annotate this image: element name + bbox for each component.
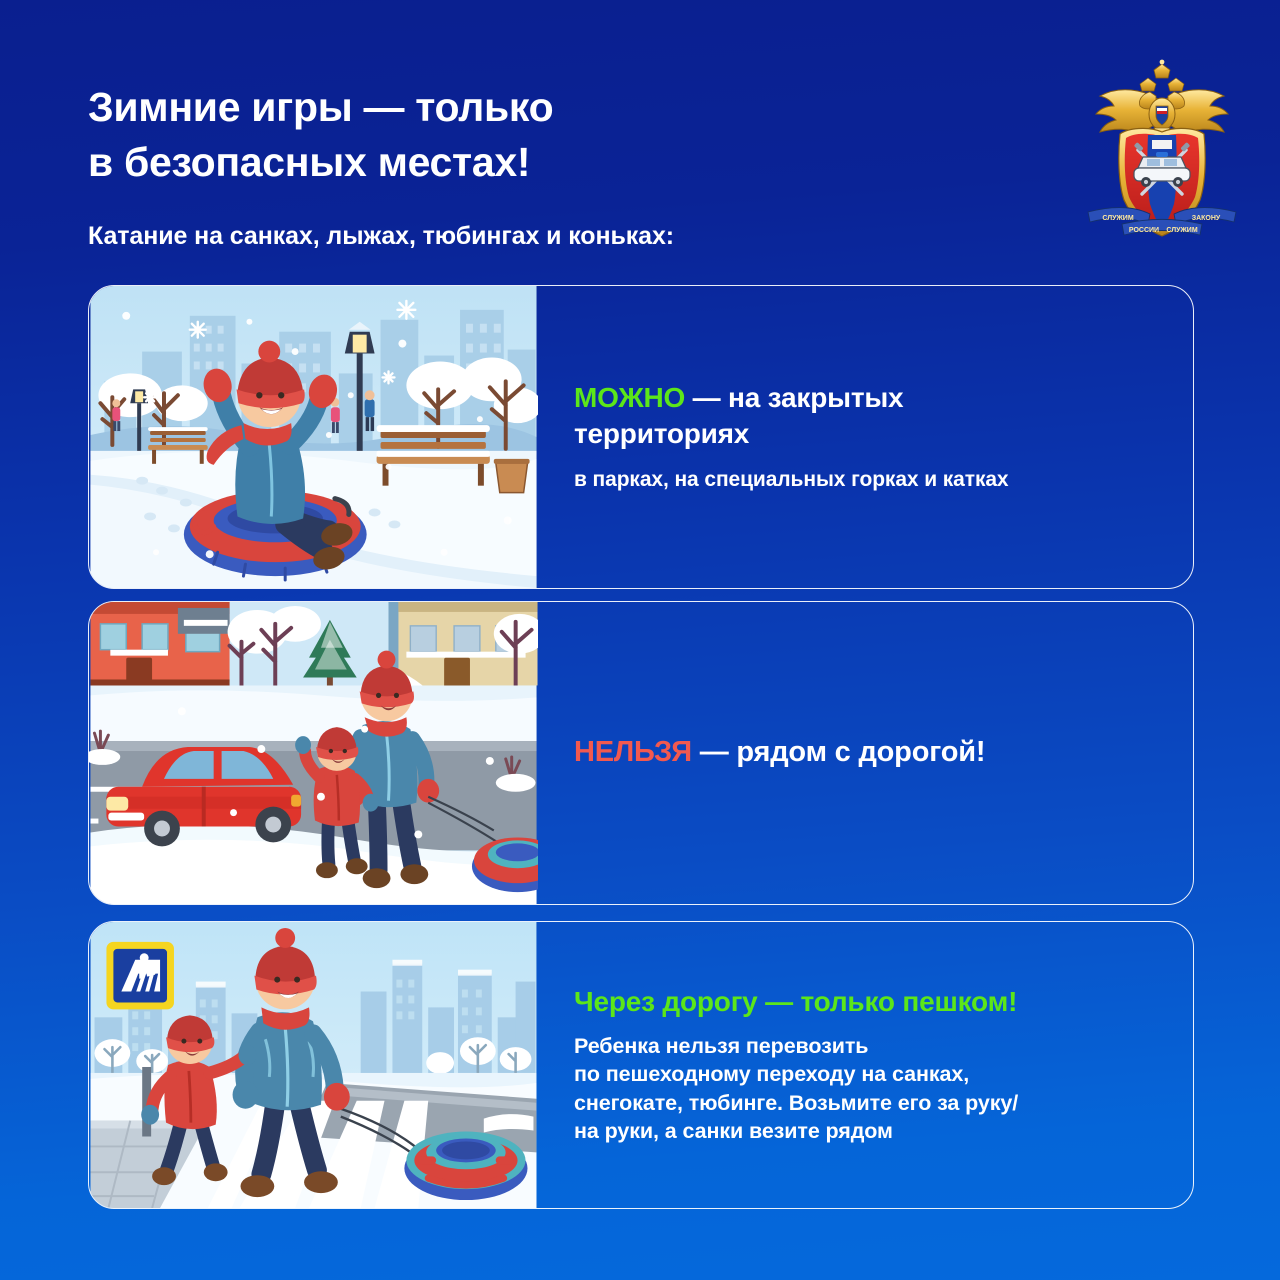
page-title: Зимние игры — только в безопасных местах… xyxy=(88,80,848,189)
header: Зимние игры — только в безопасных местах… xyxy=(0,0,1280,285)
subtext-line-4: на руки, а санки везите рядом xyxy=(574,1119,893,1143)
highlight-nelzya: НЕЛЬЗЯ xyxy=(574,736,692,768)
page-title-line-2: в безопасных местах! xyxy=(88,135,848,190)
svg-text:ЗАКОНУ: ЗАКОНУ xyxy=(1192,215,1221,222)
svg-text:СЛУЖИМ: СЛУЖИМ xyxy=(1166,227,1198,234)
family-with-tube-near-road-illustration xyxy=(89,602,538,904)
svg-text:СЛУЖИМ: СЛУЖИМ xyxy=(1102,215,1134,222)
svg-text:РОССИИ: РОССИИ xyxy=(1129,227,1159,234)
highlight-crossing: Через дорогу — только пешком! xyxy=(574,986,1017,1017)
card-crossing-on-foot: Через дорогу — только пешком! Ребенка не… xyxy=(88,921,1194,1209)
heading-rest-line-1: — на закрытых xyxy=(685,382,903,413)
card-forbidden-near-road: НЕЛЬЗЯ — рядом с дорогой! xyxy=(88,601,1194,905)
subtext-line-1: Ребенка нельзя перевозить xyxy=(574,1034,868,1058)
page-title-line-1: Зимние игры — только xyxy=(88,80,848,135)
card-heading-crossing: Через дорогу — только пешком! xyxy=(574,984,1167,1020)
card-text-allowed: МОЖНО — на закрытых территориях в парках… xyxy=(538,286,1193,588)
subtext-line-3: снегокате, тюбинге. Возьмите его за руку… xyxy=(574,1091,1018,1115)
card-allowed-closed-areas: МОЖНО — на закрытых территориях в парках… xyxy=(88,285,1194,589)
card-text-crossing: Через дорогу — только пешком! Ребенка не… xyxy=(538,922,1193,1208)
card-subtext-allowed: в парках, на специальных горках и катках xyxy=(574,466,1167,494)
card-text-forbidden: НЕЛЬЗЯ — рядом с дорогой! xyxy=(538,602,1193,904)
subtext-line-2: по пешеходному переходу на санках, xyxy=(574,1062,969,1086)
heading-rest-forbidden: — рядом с дорогой! xyxy=(692,736,985,768)
child-tubing-in-park-illustration xyxy=(89,286,538,588)
subtitle: Катание на санках, лыжах, тюбингах и кон… xyxy=(88,222,674,251)
card-heading-forbidden: НЕЛЬЗЯ — рядом с дорогой! xyxy=(574,734,1167,772)
card-heading-allowed: МОЖНО — на закрытых территориях xyxy=(574,380,1167,453)
heading-rest-line-2: территориях xyxy=(574,418,749,449)
gibdd-emblem-icon: СЛУЖИМ ЗАКОНУ РОССИИ СЛУЖИМ xyxy=(1078,58,1246,238)
card-subtext-crossing: Ребенка нельзя перевозить по пешеходному… xyxy=(574,1032,1167,1146)
family-crossing-road-on-foot-illustration xyxy=(89,922,538,1208)
highlight-mozhno: МОЖНО xyxy=(574,382,685,413)
